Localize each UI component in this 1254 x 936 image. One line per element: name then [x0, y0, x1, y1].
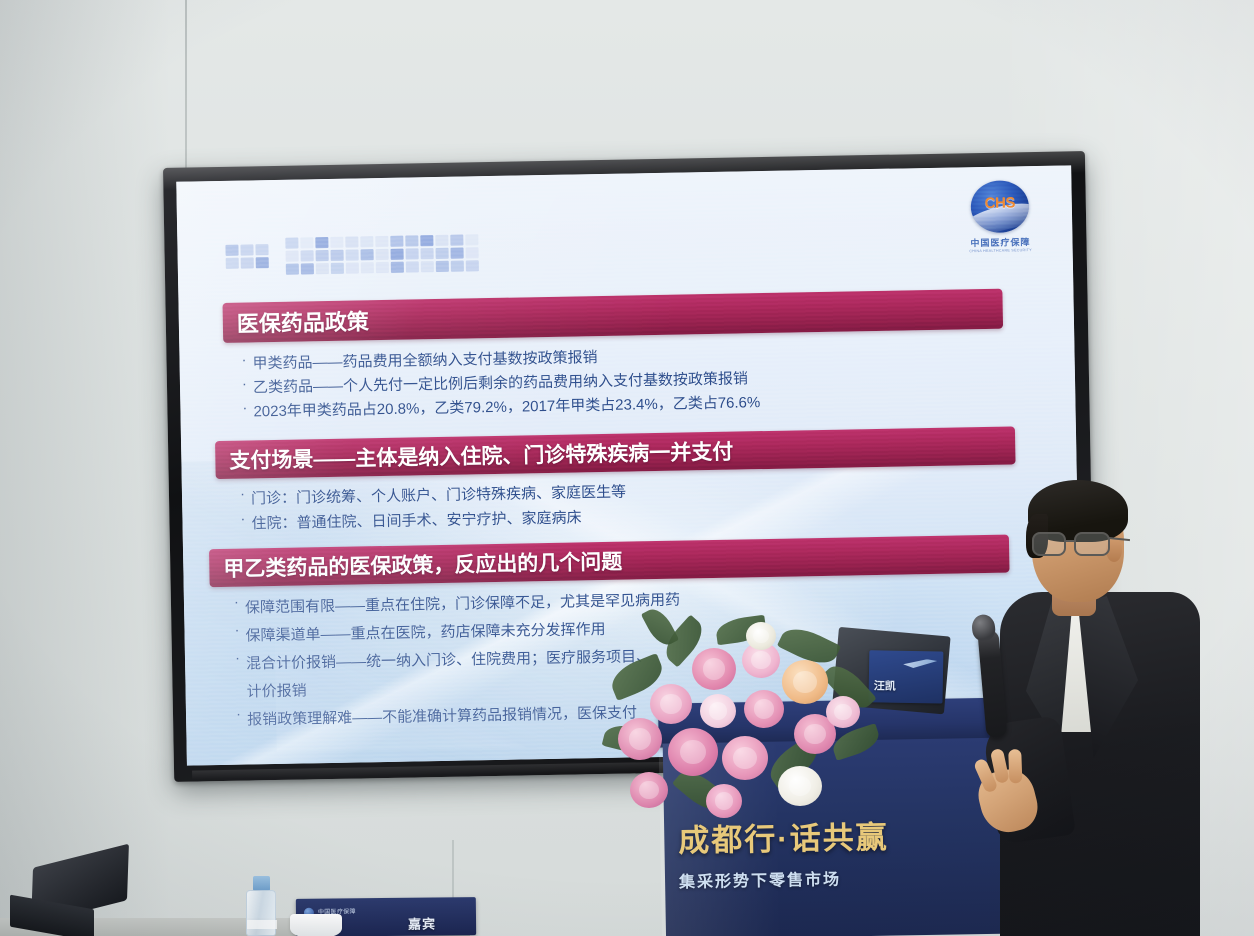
logo-org-en: CHINA HEALTHCARE SECURITY — [963, 248, 1039, 253]
rose — [778, 766, 822, 806]
rose — [706, 784, 742, 818]
rose — [744, 690, 784, 728]
rose — [700, 694, 736, 728]
globe-icon: CHS — [970, 180, 1029, 233]
bullet-text: 报销政策理解难——不能准确计算药品报销情况，医保支付 — [247, 699, 637, 734]
card-swoosh-icon — [903, 659, 937, 669]
redacted-title-mosaic — [225, 234, 479, 276]
rose — [722, 736, 768, 780]
lens-right — [1074, 532, 1110, 556]
glasses-temple — [1108, 537, 1130, 541]
mosaic-group-b — [285, 234, 479, 275]
logo-mark-text: CHS — [971, 194, 1029, 212]
rose — [782, 660, 828, 704]
section-heading-1: 医保药品政策 — [237, 304, 370, 338]
bullet-text: 住院：普通住院、日间手术、安宁疗护、家庭病床 — [251, 505, 581, 536]
rose — [668, 728, 718, 776]
section-heading-2: 支付场景——主体是纳入住院、门诊特殊疾病一并支付 — [229, 436, 733, 475]
rose — [618, 718, 662, 760]
conference-room-photo: CHS 中国医疗保障 CHINA HEALTHCARE SECURITY 医保药… — [0, 0, 1254, 936]
lens-left — [1032, 532, 1066, 556]
bottle-cap — [253, 876, 270, 891]
rose — [826, 696, 860, 728]
table-laptop — [10, 856, 128, 928]
paper-cup — [290, 914, 342, 936]
bottle-body — [246, 890, 276, 936]
section-heading-bar-3: 甲乙类药品的医保政策，反应出的几个问题 — [209, 535, 1010, 588]
rose — [746, 622, 776, 650]
section-bullets-2: ·门诊：门诊统筹、个人账户、门诊特殊疾病、家庭医生等 ·住院：普通住院、日间手术… — [240, 480, 627, 537]
rose — [692, 648, 736, 690]
microphone-head-icon — [971, 614, 996, 642]
glasses-bridge — [1066, 540, 1076, 542]
flower-bouquet — [596, 608, 908, 838]
presenter — [986, 470, 1216, 936]
nameplate-name: 嘉宾 — [408, 913, 436, 932]
section-heading-bar-2: 支付场景——主体是纳入住院、门诊特殊疾病一并支付 — [215, 426, 1016, 479]
rose — [630, 772, 668, 808]
mosaic-group-a — [225, 244, 268, 269]
bullet-text: 计价报销 — [246, 677, 307, 706]
rose — [650, 684, 692, 724]
eyeglasses — [1030, 532, 1122, 558]
wall-shading-left — [0, 0, 170, 936]
section-heading-bar-1: 医保药品政策 — [222, 289, 1003, 343]
section-bullets-1: ·甲类药品——药品费用全额纳入支付基数按政策报销 ·乙类药品——个人先付一定比例… — [241, 343, 760, 424]
section-heading-3: 甲乙类药品的医保政策，反应出的几个问题 — [223, 546, 622, 583]
water-bottle — [246, 876, 276, 936]
bottle-label — [247, 920, 277, 929]
chs-logo: CHS 中国医疗保障 CHINA HEALTHCARE SECURITY — [961, 180, 1039, 265]
